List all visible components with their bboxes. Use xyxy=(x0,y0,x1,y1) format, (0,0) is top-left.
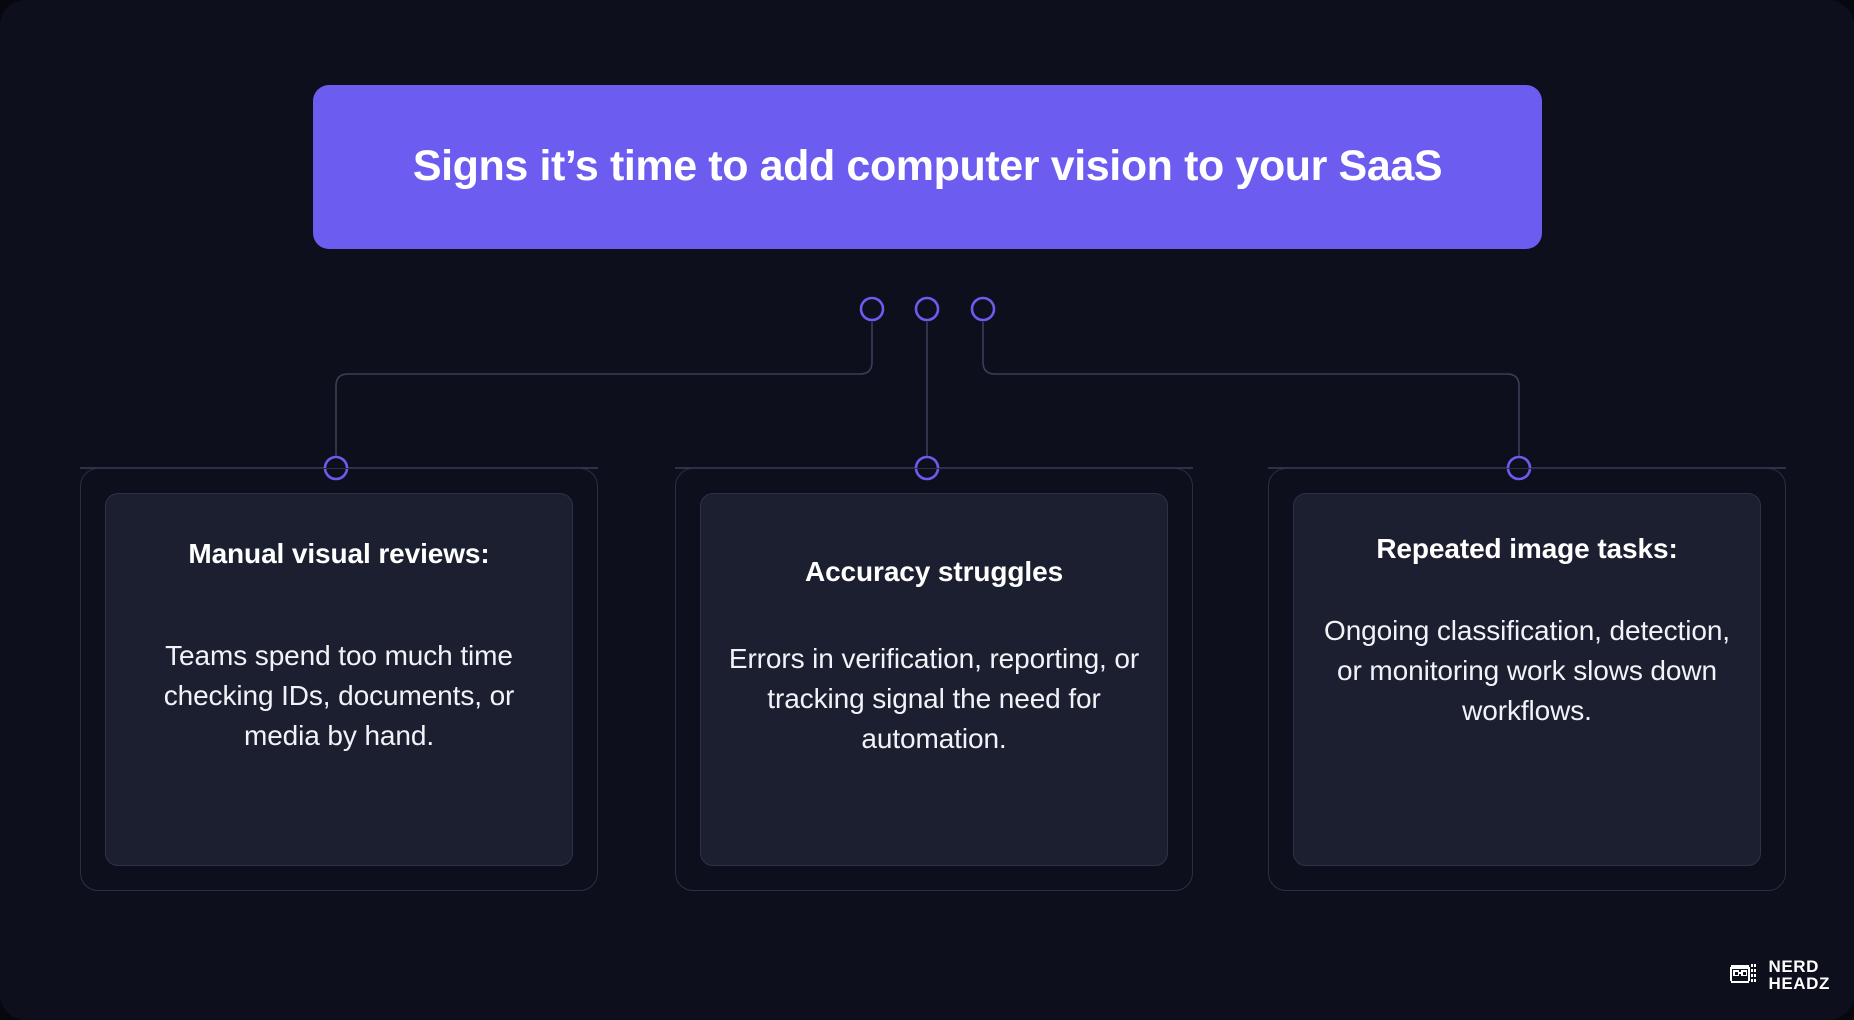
infographic-canvas: Signs it’s time to add computer vision t… xyxy=(0,0,1854,1020)
card-repeated-image-tasks: Repeated image tasks: Ongoing classifica… xyxy=(1268,468,1786,891)
card-title: Accuracy struggles xyxy=(805,552,1063,592)
card-title: Manual visual reviews: xyxy=(188,534,489,574)
logo-line-2: HEADZ xyxy=(1768,975,1830,992)
card-body: Teams spend too much time checking IDs, … xyxy=(132,636,546,757)
card-body: Ongoing classification, detection, or mo… xyxy=(1320,611,1734,732)
nerd-head-icon xyxy=(1729,961,1759,989)
connector-path-left xyxy=(336,322,872,468)
card-inner-panel: Repeated image tasks: Ongoing classifica… xyxy=(1293,493,1761,866)
card-body: Errors in verification, reporting, or tr… xyxy=(727,639,1141,760)
page-title: Signs it’s time to add computer vision t… xyxy=(413,142,1442,191)
card-accuracy-struggles: Accuracy struggles Errors in verificatio… xyxy=(675,468,1193,891)
hub-node-2 xyxy=(916,298,938,320)
card-inner-panel: Manual visual reviews: Teams spend too m… xyxy=(105,493,573,866)
logo-line-1: NERD xyxy=(1768,958,1830,975)
hub-node-1 xyxy=(861,298,883,320)
card-inner-panel: Accuracy struggles Errors in verificatio… xyxy=(700,493,1168,866)
hub-node-3 xyxy=(972,298,994,320)
card-manual-visual-reviews: Manual visual reviews: Teams spend too m… xyxy=(80,468,598,891)
logo-wordmark: NERD HEADZ xyxy=(1768,958,1830,992)
title-banner: Signs it’s time to add computer vision t… xyxy=(313,85,1542,249)
connector-path-right xyxy=(983,322,1519,468)
card-title: Repeated image tasks: xyxy=(1376,529,1677,569)
brand-logo: NERD HEADZ xyxy=(1729,958,1830,992)
